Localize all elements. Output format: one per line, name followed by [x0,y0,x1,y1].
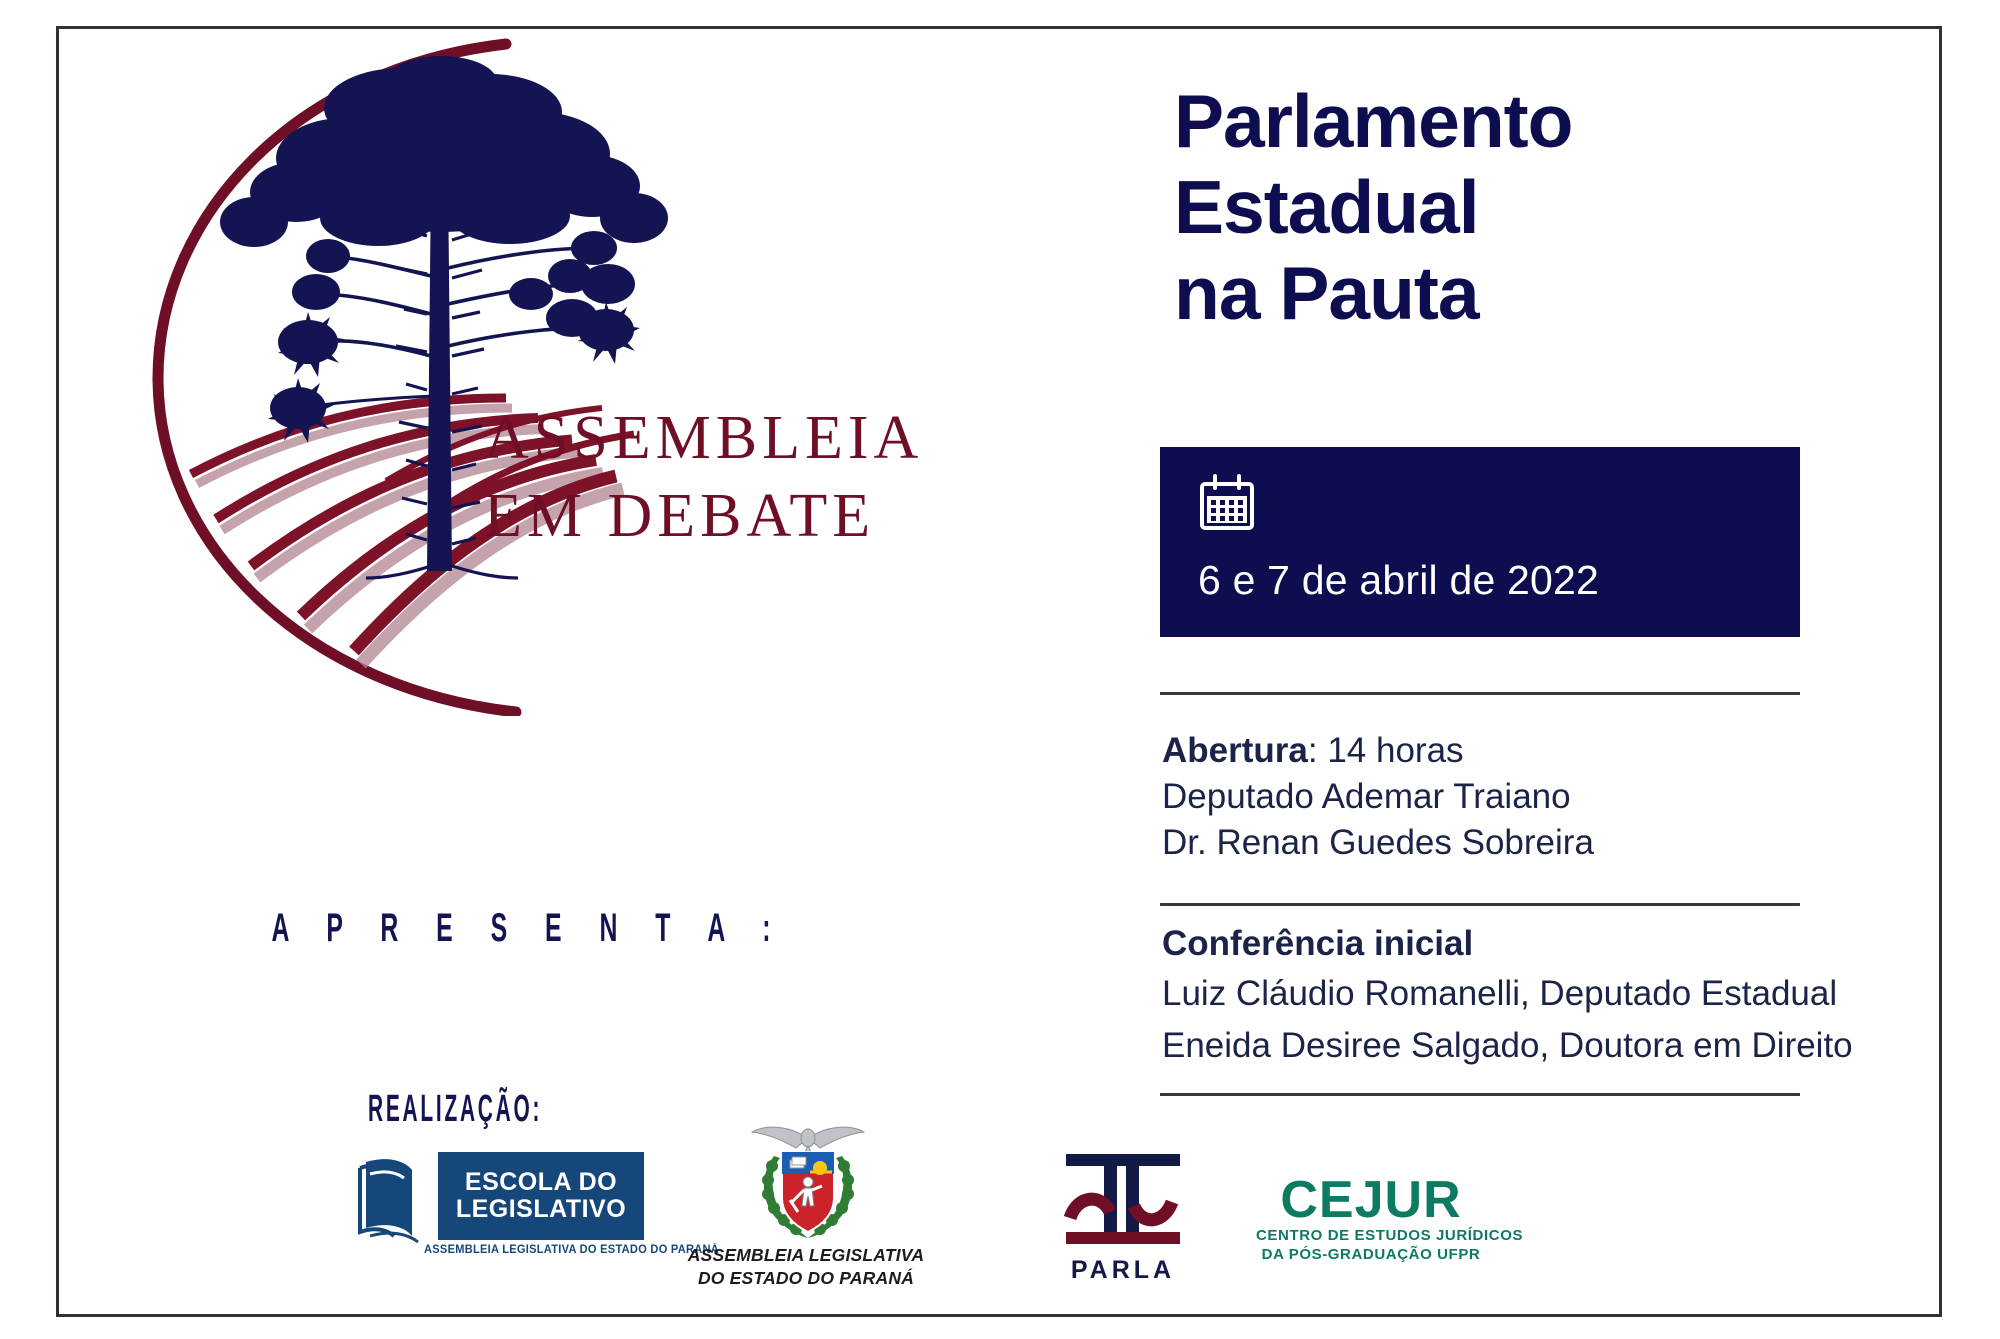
coat-of-arms-icon [738,1116,878,1248]
logo-line1: ASSEMBLEIA [484,404,923,472]
conferencia-heading: Conferência inicial [1162,920,1853,968]
title-line2: Estadual [1174,164,1834,250]
assembleia-em-debate-logo: ASSEMBLEIA EM DEBATE [86,26,986,716]
divider-top [1160,692,1800,695]
abertura-line-2: Dr. Renan Guedes Sobreira [1162,820,1594,866]
abertura-heading: Abertura [1162,731,1308,770]
page-title: Parlamento Estadual na Pauta [1174,78,1834,336]
left-column: ASSEMBLEIA EM DEBATE A P R E S E N T A :… [56,26,1056,1317]
divider-middle [1160,903,1800,906]
open-book-icon [356,1148,448,1244]
alep-caption-line1: ASSEMBLEIA LEGISLATIVA [686,1244,926,1267]
date-text: 6 e 7 de abril de 2022 [1198,557,1599,604]
escola-subtitle: ASSEMBLEIA LEGISLATIVA DO ESTADO DO PARA… [424,1244,637,1256]
alep-caption-line2: DO ESTADO DO PARANÁ [686,1267,926,1290]
calendar-icon [1198,474,1256,532]
conferencia-line-2: Eneida Desiree Salgado, Doutora em Direi… [1162,1020,1853,1072]
realization-label: REALIZAÇÃO: [368,1088,542,1131]
abertura-line-1: Deputado Ademar Traiano [1162,774,1594,820]
logo-escola-do-legislativo: ESCOLA DO LEGISLATIVO ASSEMBLEIA LEGISLA… [356,1144,646,1264]
right-column: Parlamento Estadual na Pauta 6 e 7 de ab… [1160,0,1840,1339]
logo-artwork: ASSEMBLEIA EM DEBATE [86,26,986,716]
date-banner: 6 e 7 de abril de 2022 [1160,447,1800,637]
section-abertura: Abertura: 14 horas Deputado Ademar Traia… [1162,728,1594,866]
title-line1: Parlamento [1174,78,1834,164]
presents-label: A P R E S E N T A : [233,906,810,951]
title-line3: na Pauta [1174,250,1834,336]
event-poster: ASSEMBLEIA EM DEBATE A P R E S E N T A :… [0,0,2000,1339]
section-conferencia: Conferência inicial Luiz Cláudio Romanel… [1162,920,1853,1072]
logo-assembleia-legislativa: ASSEMBLEIA LEGISLATIVA DO ESTADO DO PARA… [686,1116,926,1306]
escola-name-line2: LEGISLATIVO [456,1196,626,1223]
escola-nameplate: ESCOLA DO LEGISLATIVO [438,1152,644,1240]
escola-name-line1: ESCOLA DO [465,1169,617,1196]
abertura-heading-suffix: : 14 horas [1308,731,1464,770]
alep-caption: ASSEMBLEIA LEGISLATIVA DO ESTADO DO PARA… [686,1244,926,1290]
divider-bottom [1160,1093,1800,1096]
abertura-heading-line: Abertura: 14 horas [1162,728,1594,774]
conferencia-line-1: Luiz Cláudio Romanelli, Deputado Estadua… [1162,968,1853,1020]
logo-line2: EM DEBATE [484,482,875,550]
